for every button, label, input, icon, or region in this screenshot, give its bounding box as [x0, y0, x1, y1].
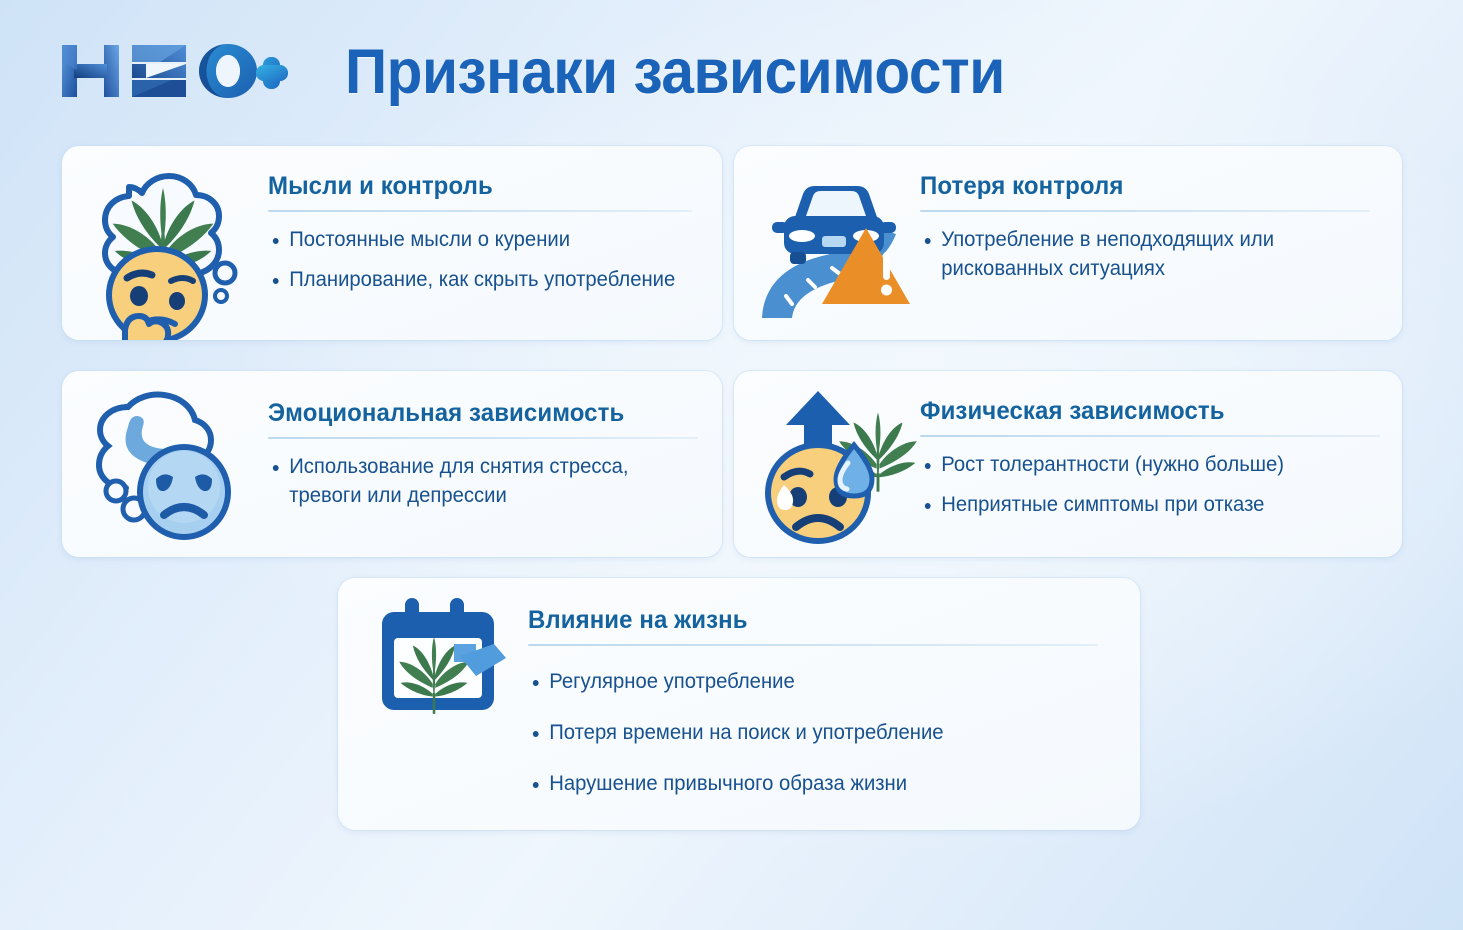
card-heading: Эмоциональная зависимость: [268, 399, 681, 428]
card-heading: Мысли и контроль: [268, 172, 675, 201]
list-item: Планирование, как скрыть употребление: [268, 266, 677, 295]
card-body-impact-on-life: Влияние на жизнь Регулярное употребление…: [528, 606, 1098, 799]
header: Признаки зависимости: [0, 0, 1463, 142]
sad-blue-face-thought-bubble-icon: [86, 387, 248, 543]
list-item: Неприятные симптомы при отказе: [920, 491, 1364, 520]
heading-divider: [528, 644, 1098, 646]
card-thoughts-and-control: Мысли и контроль Постоянные мысли о куре…: [62, 146, 722, 340]
card-loss-of-control: Потеря контроля Употребление в неподходя…: [734, 146, 1402, 340]
list-item: Нарушение привычного образа жизни: [528, 770, 1078, 799]
car-road-warning-triangle-icon: [750, 160, 918, 328]
thinking-face-cannabis-thought-bubble-icon: [84, 160, 254, 340]
list-item: Употребление в неподходящих или рискован…: [920, 226, 1354, 284]
list-item: Постоянные мысли о курении: [268, 226, 677, 255]
card-body-loss-of-control: Потеря контроля Употребление в неподходя…: [920, 172, 1370, 284]
heading-divider: [920, 210, 1370, 212]
sad-face-icon: [140, 447, 228, 537]
bullet-list: Постоянные мысли о курении Планирование,…: [268, 226, 692, 295]
calendar-cannabis-icon: [374, 594, 514, 724]
heading-divider: [268, 437, 698, 439]
list-item: Рост толерантности (нужно больше): [920, 451, 1364, 480]
card-body-physical-dependence: Физическая зависимость Рост толерантност…: [920, 397, 1380, 520]
card-heading: Потеря контроля: [920, 172, 1352, 201]
card-heading: Физическая зависимость: [920, 397, 1362, 426]
card-emotional-dependence: Эмоциональная зависимость Использование …: [62, 371, 722, 557]
logo-letter-n: [62, 45, 119, 97]
card-body-emotional-dependence: Эмоциональная зависимость Использование …: [268, 399, 698, 511]
logo-letter-e: [132, 45, 186, 97]
list-item: Регулярное употребление: [528, 668, 1078, 697]
sweating-sad-face-up-arrow-cannabis-icon: [756, 381, 920, 547]
list-item: Потеря времени на поиск и употребление: [528, 719, 1078, 748]
bullet-list: Использование для снятия стресса, тревог…: [268, 453, 698, 511]
list-item: Использование для снятия стресса, тревог…: [268, 453, 683, 511]
heading-divider: [920, 435, 1380, 437]
bullet-list: Регулярное употребление Потеря времени н…: [528, 668, 1098, 799]
infographic-canvas: Признаки зависимости: [0, 0, 1463, 930]
card-body-thoughts-and-control: Мысли и контроль Постоянные мысли о куре…: [268, 172, 692, 295]
bullet-list: Употребление в неподходящих или рискован…: [920, 226, 1370, 284]
logo-plus-icon: [256, 57, 288, 89]
bullet-list: Рост толерантности (нужно больше) Неприя…: [920, 451, 1380, 520]
page-title: Признаки зависимости: [345, 36, 1005, 108]
card-physical-dependence: Физическая зависимость Рост толерантност…: [734, 371, 1402, 557]
card-impact-on-life: Влияние на жизнь Регулярное употребление…: [338, 578, 1140, 830]
neo-plus-logo: [60, 40, 290, 106]
thinking-face-icon: [109, 249, 205, 340]
heading-divider: [268, 210, 692, 212]
card-heading: Влияние на жизнь: [528, 606, 1075, 635]
logo-letter-o: [199, 44, 257, 98]
